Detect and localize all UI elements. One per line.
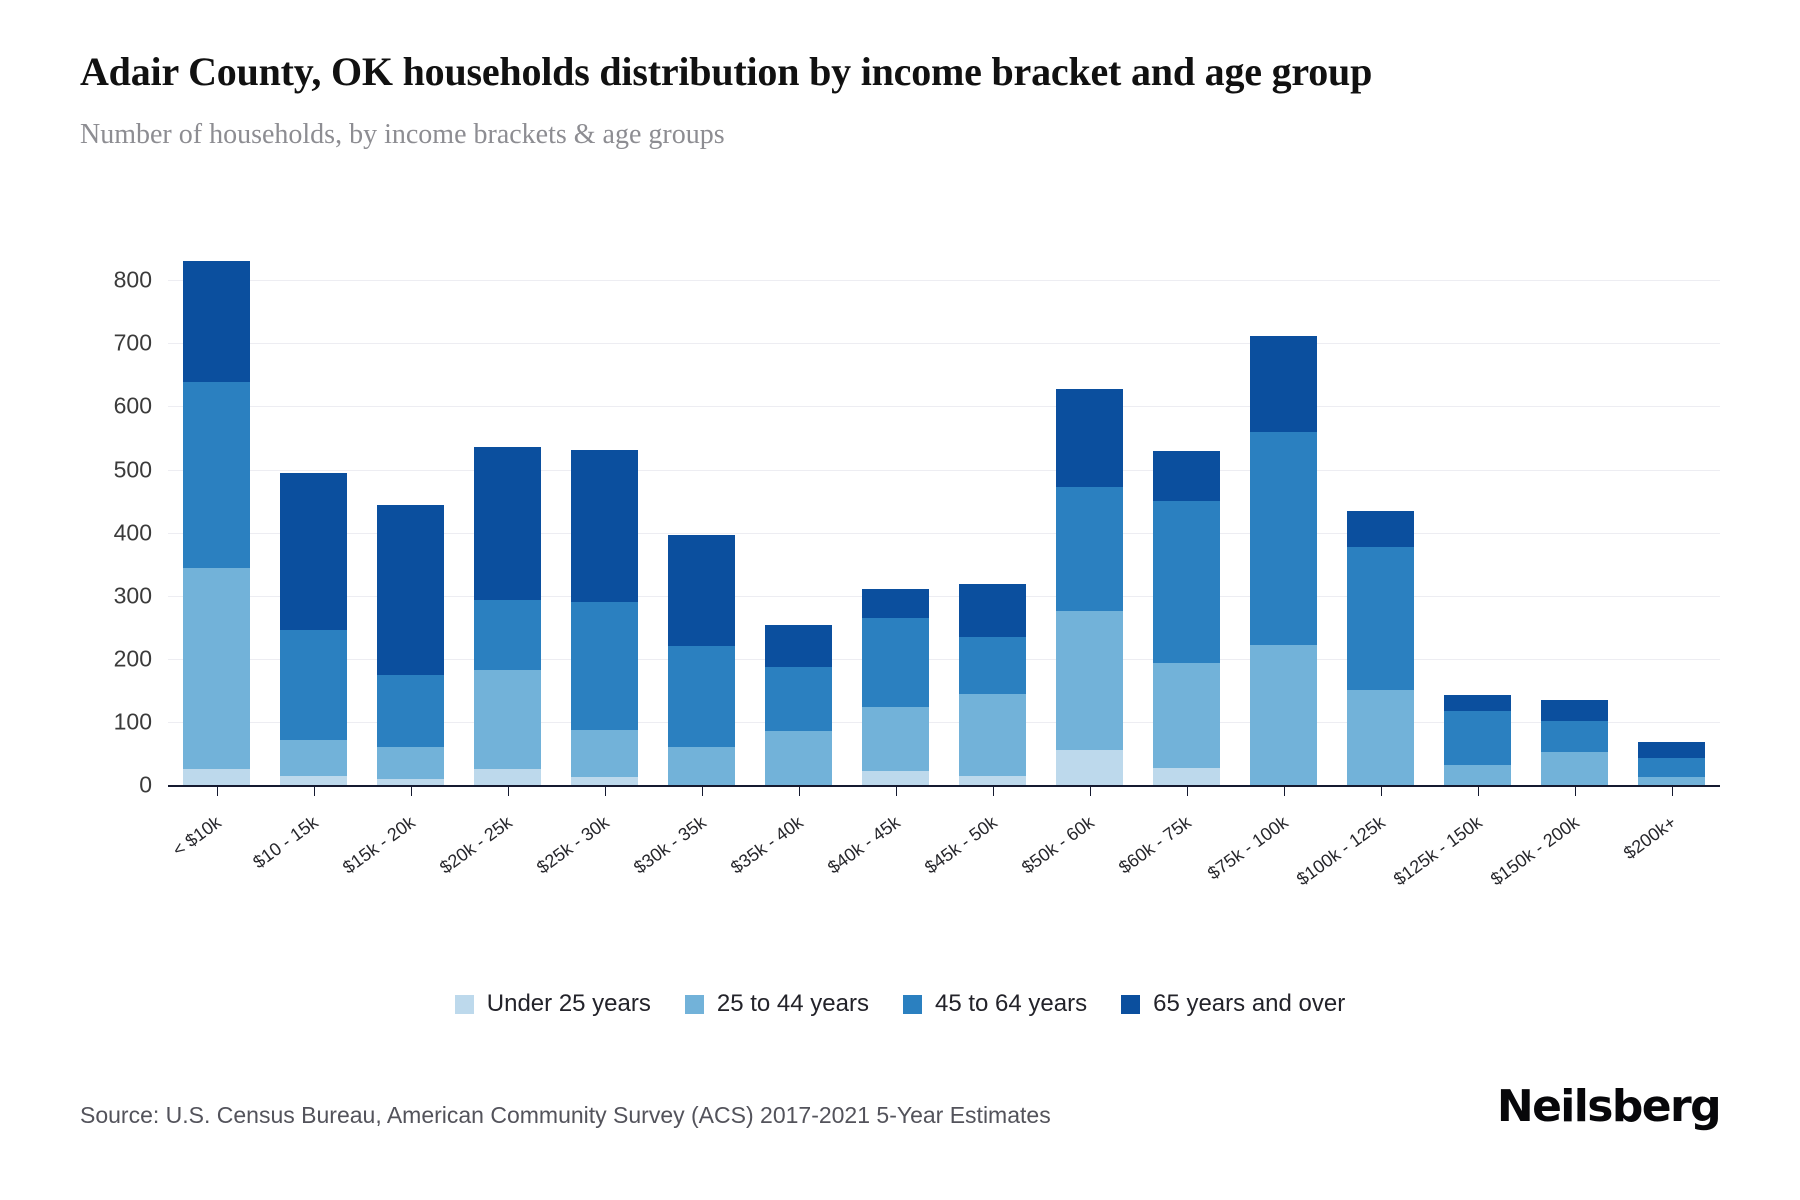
stacked-bar[interactable]: [1056, 389, 1124, 785]
x-axis-tick: [1381, 785, 1382, 796]
bar-segment[interactable]: [765, 731, 833, 785]
x-axis-tick: [993, 785, 994, 796]
bar-segment[interactable]: [1056, 389, 1124, 487]
x-axis-tick: [605, 785, 606, 796]
stacked-bar[interactable]: [183, 261, 251, 785]
bar-segment[interactable]: [571, 777, 639, 785]
bar-segment[interactable]: [1347, 547, 1415, 691]
legend-label: Under 25 years: [487, 990, 651, 1018]
legend-item[interactable]: 25 to 44 years: [685, 990, 869, 1018]
bar-segment[interactable]: [474, 670, 542, 770]
stacked-bar[interactable]: [1347, 511, 1415, 785]
stacked-bar[interactable]: [1444, 695, 1512, 785]
bar-segment[interactable]: [1541, 700, 1609, 720]
y-axis-tick-label: 100: [114, 708, 152, 735]
y-axis-tick-label: 600: [114, 393, 152, 420]
bar-segment[interactable]: [1638, 777, 1706, 785]
legend-swatch-icon: [685, 995, 704, 1014]
bar-segment[interactable]: [183, 261, 251, 382]
bar-segment[interactable]: [1444, 711, 1512, 765]
stacked-bar[interactable]: [1250, 336, 1318, 785]
stacked-bar[interactable]: [1638, 742, 1706, 785]
bar-segment[interactable]: [1250, 432, 1318, 645]
x-axis-tick: [1478, 785, 1479, 796]
bar-segment[interactable]: [1056, 611, 1124, 750]
legend-swatch-icon: [1121, 995, 1140, 1014]
x-axis-tick: [702, 785, 703, 796]
x-axis-line: [168, 785, 1720, 787]
bar-group[interactable]: [1526, 255, 1623, 785]
bar-group[interactable]: [847, 255, 944, 785]
y-axis-tick-label: 400: [114, 519, 152, 546]
stacked-bar[interactable]: [474, 447, 542, 785]
x-axis-tick: [1672, 785, 1673, 796]
legend-label: 65 years and over: [1153, 990, 1345, 1018]
y-axis-tick-label: 500: [114, 456, 152, 483]
bar-group[interactable]: [1429, 255, 1526, 785]
x-axis: < $10k$10 - 15k$15k - 20k$20k - 25k$25k …: [168, 798, 1720, 898]
bar-group[interactable]: [1138, 255, 1235, 785]
bar-segment[interactable]: [183, 769, 251, 785]
bar-segment[interactable]: [1153, 451, 1221, 501]
stacked-bar[interactable]: [1153, 451, 1221, 785]
bar-segment[interactable]: [571, 602, 639, 730]
bar-segment[interactable]: [474, 600, 542, 670]
y-axis-tick-label: 800: [114, 267, 152, 294]
bar-group[interactable]: [1235, 255, 1332, 785]
legend-label: 25 to 44 years: [717, 990, 869, 1018]
stacked-bar[interactable]: [959, 584, 1027, 785]
bar-segment[interactable]: [1444, 765, 1512, 785]
bar-segment[interactable]: [474, 769, 542, 785]
bar-segment[interactable]: [668, 747, 736, 785]
bar-segment[interactable]: [1444, 695, 1512, 711]
x-axis-tick: [896, 785, 897, 796]
stacked-bar[interactable]: [862, 589, 930, 785]
bar-segment[interactable]: [1153, 768, 1221, 785]
bar-segment[interactable]: [862, 707, 930, 771]
bar-group[interactable]: [265, 255, 362, 785]
bar-segment[interactable]: [280, 740, 348, 777]
source-note: Source: U.S. Census Bureau, American Com…: [80, 1102, 1051, 1129]
x-axis-tick: [411, 785, 412, 796]
bar-segment[interactable]: [183, 382, 251, 568]
stacked-bar[interactable]: [668, 535, 736, 785]
bar-segment[interactable]: [474, 447, 542, 599]
bar-group[interactable]: [1332, 255, 1429, 785]
legend-item[interactable]: 65 years and over: [1121, 990, 1345, 1018]
bar-group[interactable]: [1041, 255, 1138, 785]
chart-subtitle: Number of households, by income brackets…: [80, 119, 1720, 151]
bar-segment[interactable]: [1638, 758, 1706, 777]
x-axis-tick: [1187, 785, 1188, 796]
x-axis-tick: [799, 785, 800, 796]
stacked-bar[interactable]: [765, 625, 833, 785]
bar-segment[interactable]: [862, 771, 930, 786]
bar-group[interactable]: [750, 255, 847, 785]
bar-segment[interactable]: [765, 667, 833, 731]
y-axis-tick-label: 200: [114, 645, 152, 672]
bar-segment[interactable]: [668, 535, 736, 647]
bar-segment[interactable]: [1250, 645, 1318, 785]
stacked-bar[interactable]: [571, 450, 639, 785]
bar-segment[interactable]: [280, 473, 348, 630]
bar-segment[interactable]: [765, 625, 833, 667]
bar-segment[interactable]: [1250, 336, 1318, 432]
bar-group[interactable]: [653, 255, 750, 785]
bar-segment[interactable]: [377, 675, 445, 747]
legend-label: 45 to 64 years: [935, 990, 1087, 1018]
stacked-bar[interactable]: [280, 473, 348, 785]
bar-segment[interactable]: [1153, 501, 1221, 663]
y-axis: 0100200300400500600700800: [80, 255, 152, 785]
bar-segment[interactable]: [959, 584, 1027, 636]
bar-segment[interactable]: [1153, 663, 1221, 768]
bar-segment[interactable]: [1541, 752, 1609, 785]
bar-segment[interactable]: [1056, 487, 1124, 611]
x-axis-tick: [217, 785, 218, 796]
bar-group[interactable]: [944, 255, 1041, 785]
x-axis-tick: [508, 785, 509, 796]
bar-group[interactable]: [459, 255, 556, 785]
y-axis-tick-label: 700: [114, 330, 152, 357]
bar-segment[interactable]: [862, 589, 930, 618]
bar-segment[interactable]: [1541, 721, 1609, 752]
bar-segment[interactable]: [862, 618, 930, 707]
bar-segment[interactable]: [377, 505, 445, 675]
legend-swatch-icon: [903, 995, 922, 1014]
legend-item[interactable]: Under 25 years: [455, 990, 651, 1018]
chart-plot-wrapper: 0100200300400500600700800 < $10k$10 - 15…: [80, 255, 1720, 900]
bar-segment[interactable]: [1056, 750, 1124, 785]
bar-group[interactable]: [1623, 255, 1720, 785]
y-axis-tick-label: 300: [114, 582, 152, 609]
bar-segment[interactable]: [959, 694, 1027, 776]
x-axis-tick: [314, 785, 315, 796]
bar-segment[interactable]: [1347, 690, 1415, 785]
x-axis-tick: [1090, 785, 1091, 796]
bars-layer: [168, 255, 1720, 785]
bar-group[interactable]: [168, 255, 265, 785]
bar-group[interactable]: [362, 255, 459, 785]
bar-segment[interactable]: [280, 776, 348, 785]
bar-group[interactable]: [556, 255, 653, 785]
legend-swatch-icon: [455, 995, 474, 1014]
bar-segment[interactable]: [377, 747, 445, 779]
stacked-bar[interactable]: [377, 505, 445, 785]
bar-segment[interactable]: [571, 450, 639, 602]
bar-segment[interactable]: [959, 776, 1027, 785]
bar-segment[interactable]: [183, 568, 251, 769]
bar-segment[interactable]: [280, 630, 348, 739]
brand-logo: Neilsberg: [1497, 1085, 1720, 1129]
x-axis-tick: [1575, 785, 1576, 796]
bar-segment[interactable]: [668, 646, 736, 747]
x-axis-tick: [1284, 785, 1285, 796]
plot-area: [168, 255, 1720, 785]
bar-segment[interactable]: [1638, 742, 1706, 758]
chart-header: Adair County, OK households distribution…: [80, 48, 1720, 151]
bar-segment[interactable]: [571, 730, 639, 777]
bar-segment[interactable]: [959, 637, 1027, 694]
legend-item[interactable]: 45 to 64 years: [903, 990, 1087, 1018]
chart-legend: Under 25 years25 to 44 years45 to 64 yea…: [0, 990, 1800, 1018]
stacked-bar[interactable]: [1541, 700, 1609, 785]
page-title: Adair County, OK households distribution…: [80, 48, 1620, 97]
chart-footer: Source: U.S. Census Bureau, American Com…: [80, 1085, 1720, 1129]
y-axis-tick-label: 0: [139, 772, 152, 799]
bar-segment[interactable]: [1347, 511, 1415, 547]
